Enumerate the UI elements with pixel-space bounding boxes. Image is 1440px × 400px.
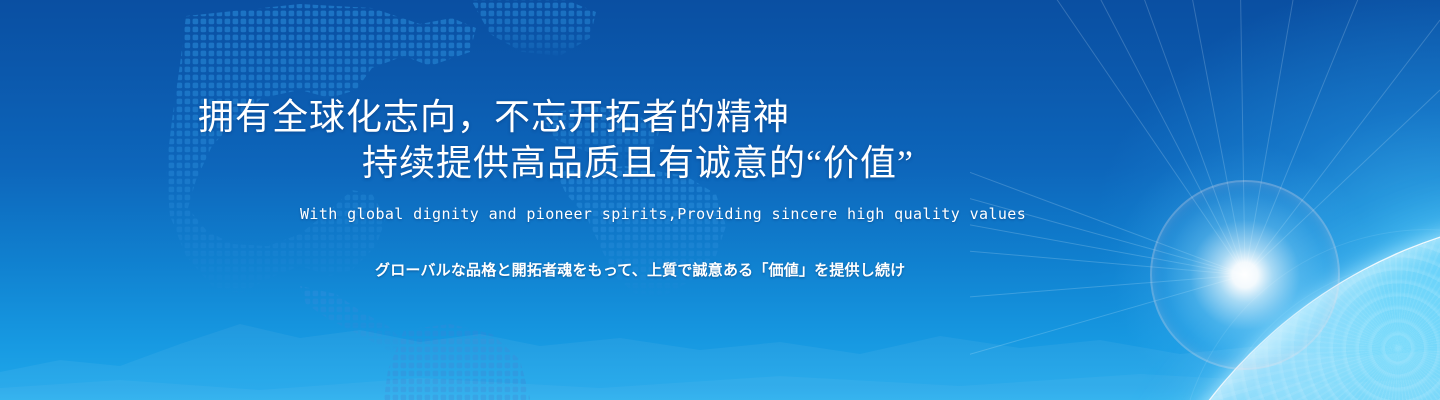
headline-line-2: 持续提供高品质且有诚意的“价值” bbox=[362, 134, 914, 186]
hero-banner: 拥有全球化志向，不忘开拓者的精神 持续提供高品质且有诚意的“价值” With g… bbox=[0, 0, 1440, 400]
headline-line-1: 拥有全球化志向，不忘开拓者的精神 bbox=[198, 88, 790, 140]
sun-flare-icon bbox=[1245, 275, 1247, 277]
subtitle-english: With global dignity and pioneer spirits,… bbox=[300, 205, 1026, 223]
banner-copy: 拥有全球化志向，不忘开拓者的精神 持续提供高品质且有诚意的“价值” With g… bbox=[0, 0, 1100, 400]
subtitle-japanese: グローバルな品格と開拓者魂をもって、上質で誠意ある「価値」を提供し続け bbox=[375, 259, 905, 280]
